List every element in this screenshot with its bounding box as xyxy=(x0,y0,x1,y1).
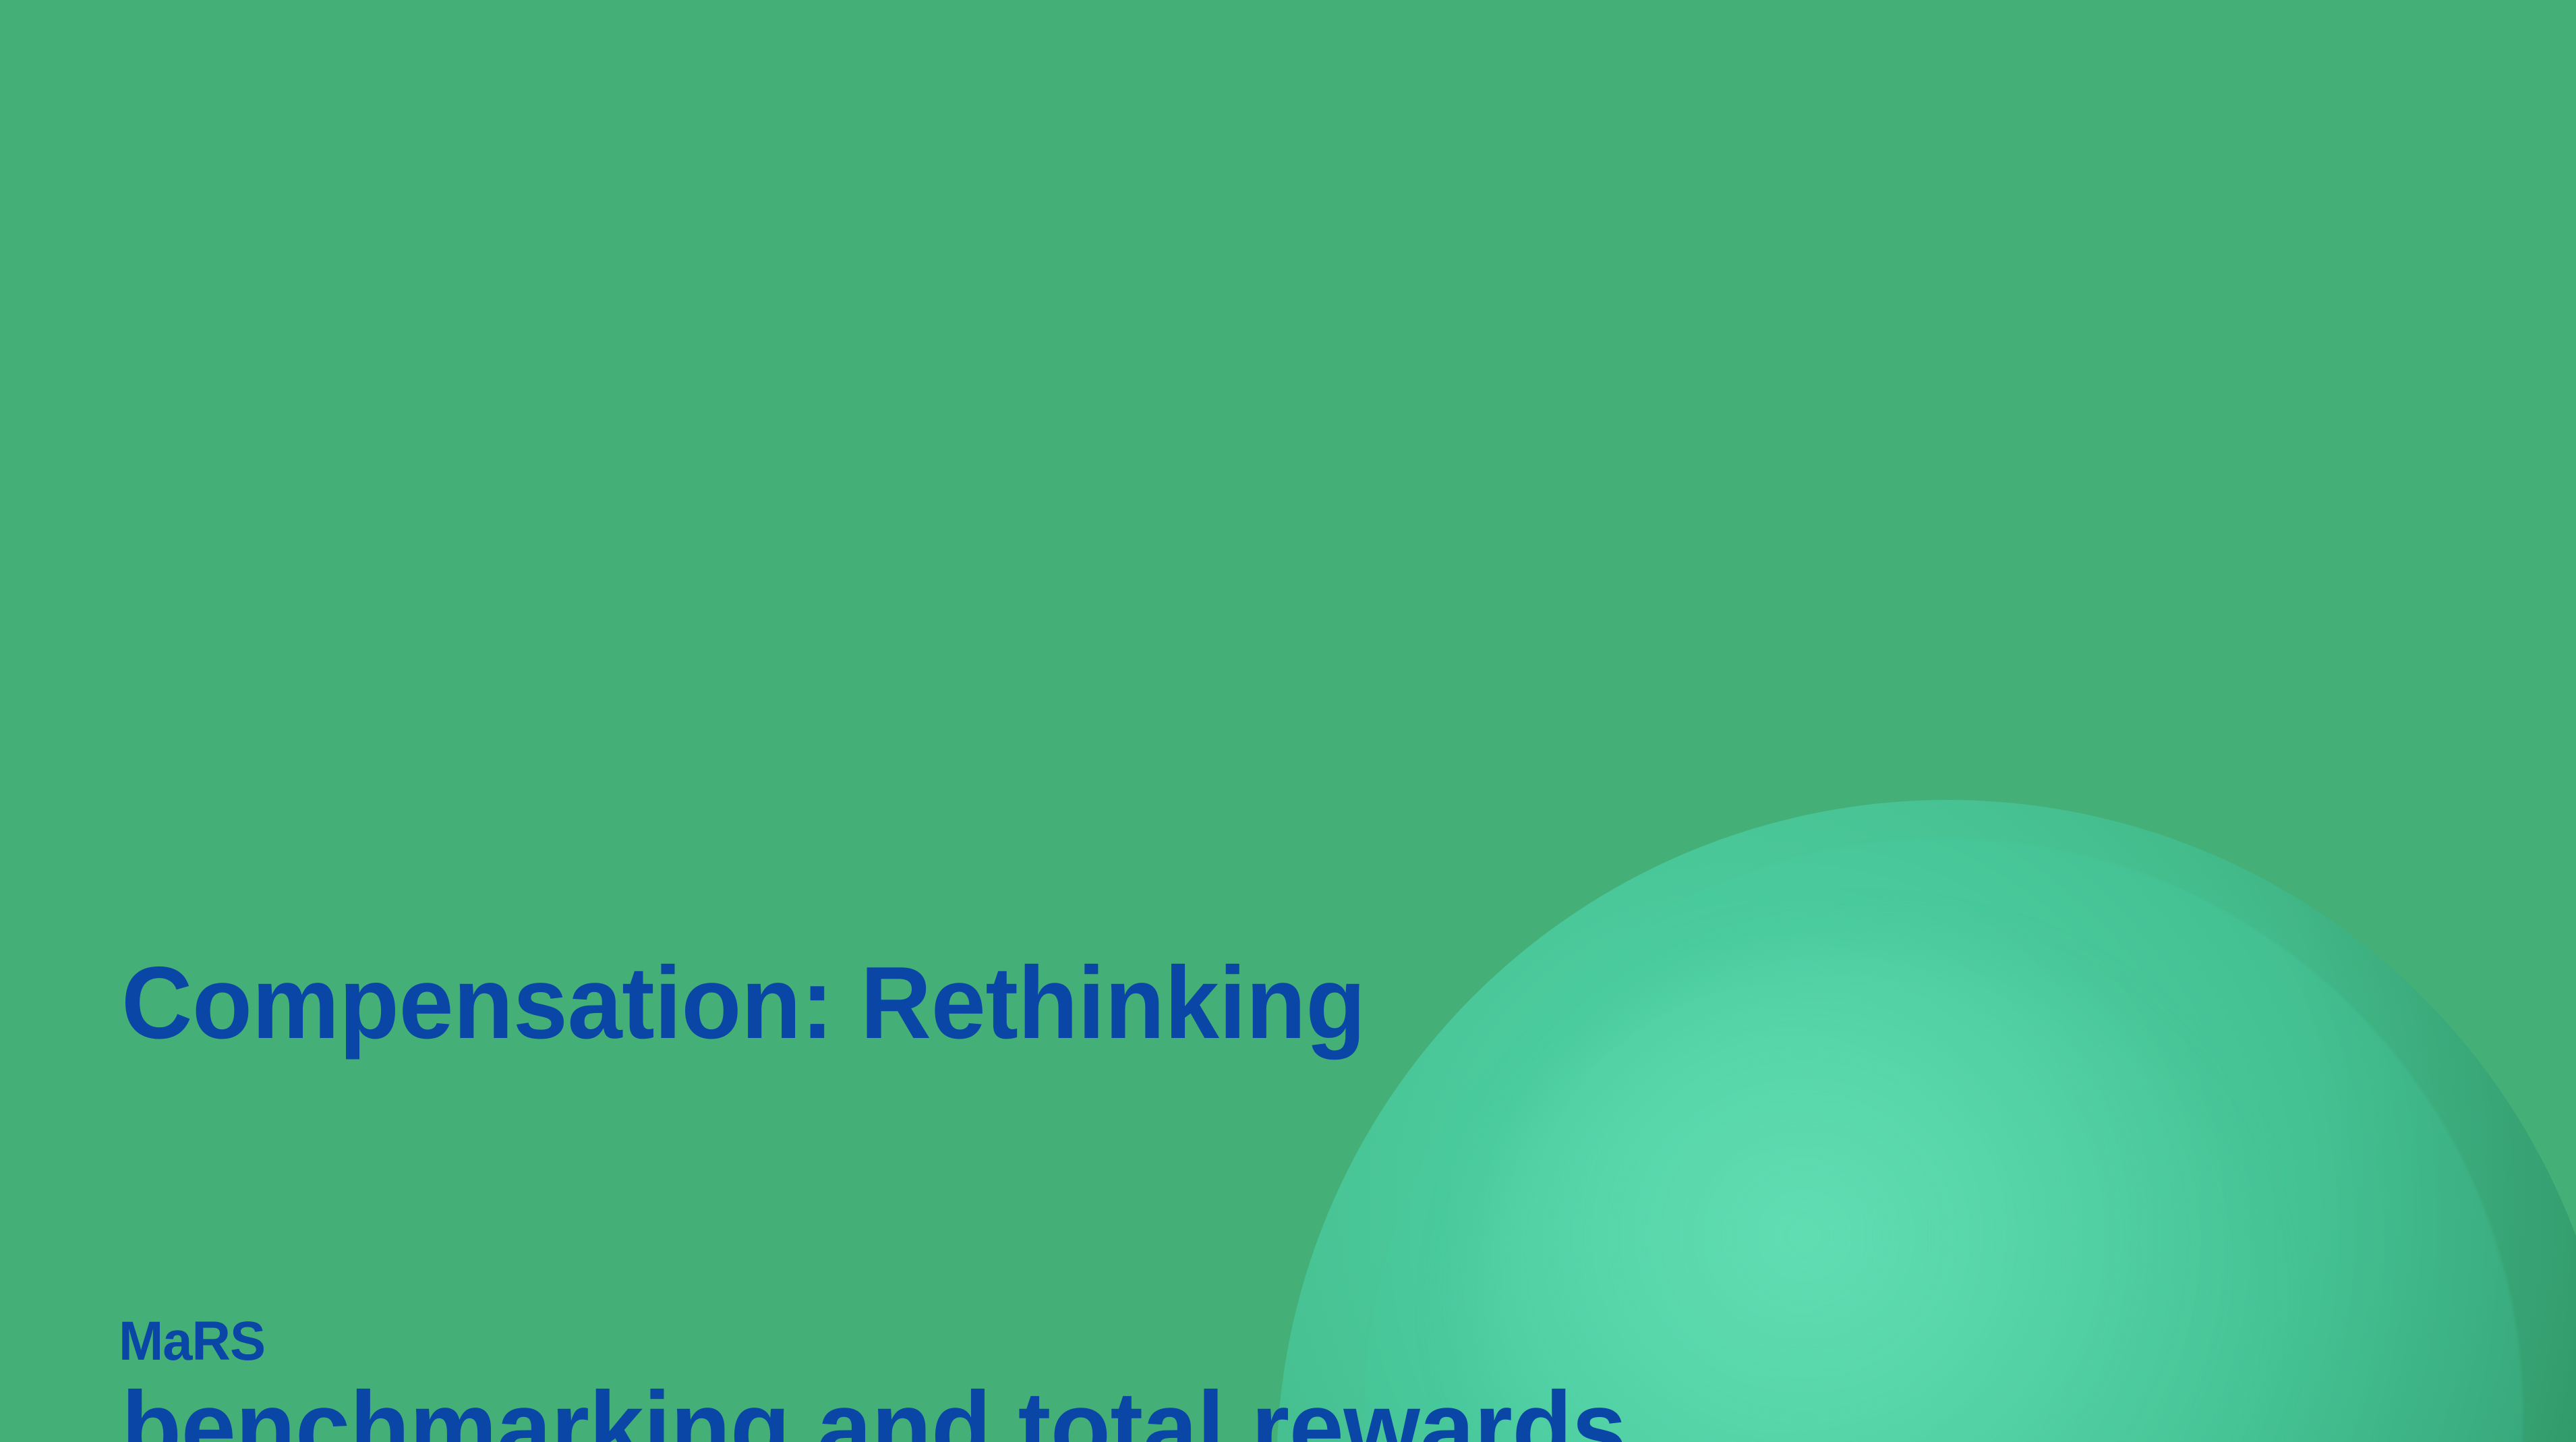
slide-title: Compensation: Rethinking benchmarking an… xyxy=(121,650,2096,1442)
slide-title-line-1: Compensation: Rethinking xyxy=(121,933,2096,1074)
mars-logo: MaRS xyxy=(119,1314,265,1369)
slide-title-line-2: benchmarking and total rewards xyxy=(121,1358,2096,1442)
title-slide: Compensation: Rethinking benchmarking an… xyxy=(0,0,2576,1442)
